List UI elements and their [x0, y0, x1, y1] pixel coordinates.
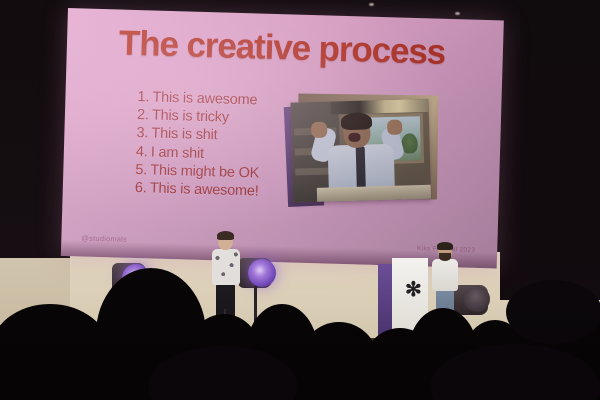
photo-person-hair [341, 112, 372, 130]
list-item-text: This is awesome [152, 89, 257, 108]
ceiling-spot-light-1 [369, 3, 374, 6]
list-item-number: 5. [135, 161, 151, 180]
list-item-text: I am shit [151, 144, 204, 162]
list-item-text: This is shit [151, 126, 218, 144]
speaker-right-shirt [432, 259, 458, 291]
list-item: 6.This is awesome! [135, 179, 259, 201]
ceiling-spot-light-2 [455, 12, 460, 15]
photo-image [290, 99, 431, 203]
stage-light-left [112, 263, 146, 293]
list-item-text: This is tricky [152, 108, 229, 126]
stage-light-lens [248, 259, 276, 287]
slide-title: The creative process [118, 25, 489, 72]
list-item-number: 2. [137, 106, 153, 125]
photo-person-right-hand [387, 120, 402, 135]
podium: ✻ [378, 258, 430, 340]
speaker-right [428, 244, 464, 342]
slide-embedded-photo [290, 99, 438, 211]
stage-light-lens [122, 264, 150, 292]
photo-top-band [330, 99, 428, 115]
projection-screen: The creative process 1.This is awesome 2… [61, 8, 504, 268]
list-item-number: 1. [137, 88, 153, 107]
stage-light-base [242, 330, 270, 334]
speaker-right-beard [439, 253, 451, 261]
stage-light-base [116, 335, 144, 339]
speaker-left [206, 233, 246, 348]
speaker-left-shirt [212, 249, 240, 285]
list-item-number: 4. [136, 143, 152, 162]
speaker-right-leg-gap [444, 310, 446, 337]
speaker-left-hair [217, 231, 234, 240]
list-item-number: 6. [135, 179, 151, 198]
list-item-number: 3. [136, 124, 152, 143]
photo-person-tie [356, 147, 366, 189]
stage-light-lens [464, 286, 490, 312]
speaker-left-leg-gap [224, 309, 226, 341]
wall-dark-left [0, 0, 70, 258]
speaker-left-shoes [214, 339, 237, 345]
stage-floor [0, 338, 600, 400]
photo-person-left-hand [311, 122, 327, 138]
asterisk-logo-icon: ✻ [405, 284, 419, 298]
stage-light-far-right [568, 292, 594, 318]
stage-light-stand [254, 286, 257, 332]
photo-desk [317, 185, 431, 202]
stage-light-stand [128, 291, 131, 337]
speaker-right-hair [437, 242, 453, 250]
photo-person-mouth [348, 133, 360, 142]
slide-list: 1.This is awesome 2.This is tricky 3.Thi… [135, 88, 262, 201]
list-item-text: This might be OK [150, 162, 259, 181]
list-item-text: This is awesome! [150, 180, 259, 199]
photo-scene: The creative process 1.This is awesome 2… [0, 0, 600, 400]
